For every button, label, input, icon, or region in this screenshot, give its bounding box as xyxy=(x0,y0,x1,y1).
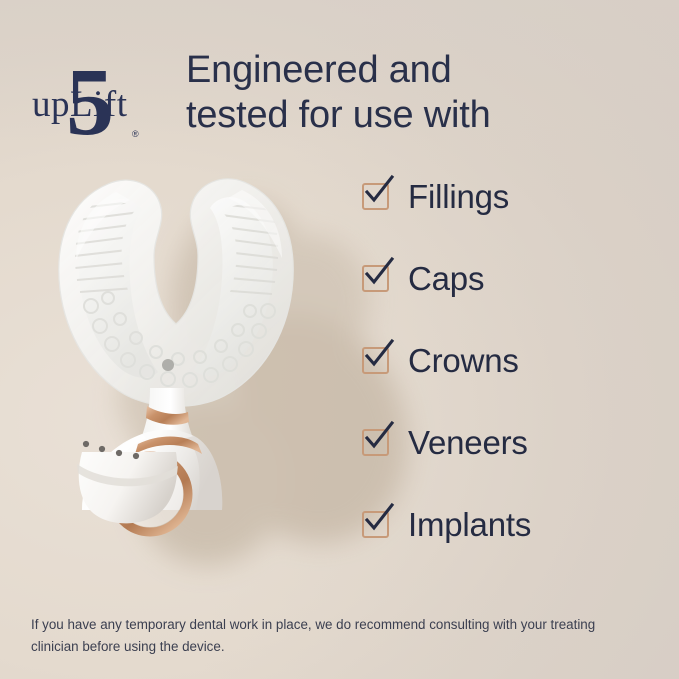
handle-base xyxy=(46,460,246,550)
mouthpiece-tray xyxy=(59,179,293,406)
list-item-label: Veneers xyxy=(408,426,528,459)
product-feature-image: upLift 5 ® Engineered and tested for use… xyxy=(0,0,679,679)
list-item: Crowns xyxy=(362,342,662,378)
page-title: Engineered and tested for use with xyxy=(186,48,606,138)
compatibility-checklist: Fillings Caps Crowns xyxy=(362,178,662,542)
checkbox-checked-icon xyxy=(362,265,389,292)
list-item: Veneers xyxy=(362,424,662,460)
list-item: Caps xyxy=(362,260,662,296)
logo-number: 5 xyxy=(66,48,114,155)
checkbox-checked-icon xyxy=(362,511,389,538)
list-item-label: Implants xyxy=(408,508,531,541)
list-item-label: Fillings xyxy=(408,180,509,213)
list-item-label: Crowns xyxy=(408,344,519,377)
checkbox-checked-icon xyxy=(362,429,389,456)
checkbox-checked-icon xyxy=(362,183,389,210)
list-item: Implants xyxy=(362,506,662,542)
disclaimer-text: If you have any temporary dental work in… xyxy=(31,614,639,657)
list-item: Fillings xyxy=(362,178,662,214)
list-item-label: Caps xyxy=(408,262,484,295)
brand-logo: upLift 5 ® xyxy=(22,38,152,146)
checkbox-checked-icon xyxy=(362,347,389,374)
logo-trademark-icon: ® xyxy=(132,129,139,139)
sensor-port xyxy=(162,359,174,371)
